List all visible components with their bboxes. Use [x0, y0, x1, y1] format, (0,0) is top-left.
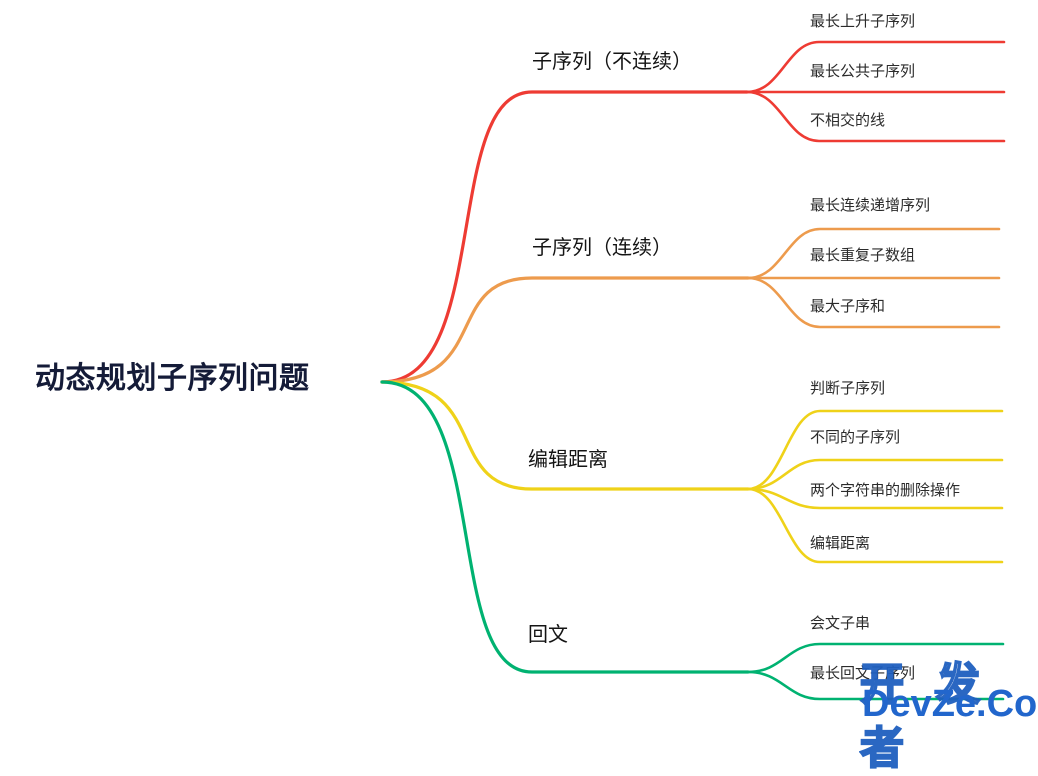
leaf-label-branch-edit-distance-2[interactable]: 两个字符串的删除操作: [810, 483, 960, 498]
leaf-line-branch-edit-distance-0: [748, 411, 1002, 489]
leaf-label-branch-subsequence-noncontiguous-0[interactable]: 最长上升子序列: [810, 14, 915, 29]
leaf-label-branch-subsequence-noncontiguous-2[interactable]: 不相交的线: [810, 113, 885, 128]
leaf-line-branch-edit-distance-3: [748, 489, 1002, 562]
leaf-label-branch-edit-distance-0[interactable]: 判断子序列: [810, 381, 885, 396]
branch-label-branch-subsequence-noncontiguous[interactable]: 子序列（不连续）: [532, 52, 692, 72]
leaf-label-branch-edit-distance-1[interactable]: 不同的子序列: [810, 430, 900, 445]
watermark-english: DevZe.CoM: [862, 683, 1038, 726]
branch-label-branch-subsequence-contiguous[interactable]: 子序列（连续）: [532, 238, 672, 258]
mindmap-connector-lines: [0, 0, 1038, 721]
leaf-label-branch-edit-distance-3[interactable]: 编辑距离: [810, 536, 870, 551]
branch-label-branch-edit-distance[interactable]: 编辑距离: [528, 450, 608, 470]
leaf-label-branch-subsequence-noncontiguous-1[interactable]: 最长公共子序列: [810, 64, 915, 79]
root-node-label[interactable]: 动态规划子序列问题: [35, 364, 310, 394]
leaf-label-branch-palindrome-1[interactable]: 最长回文子序列: [810, 666, 915, 681]
leaf-label-branch-palindrome-0[interactable]: 会文子串: [810, 616, 870, 631]
leaf-label-branch-subsequence-contiguous-1[interactable]: 最长重复子数组: [810, 248, 915, 263]
leaf-label-branch-subsequence-contiguous-2[interactable]: 最大子序和: [810, 299, 885, 314]
mindmap-canvas: 动态规划子序列问题子序列（不连续）最长上升子序列最长公共子序列不相交的线子序列（…: [0, 0, 1038, 721]
leaf-label-branch-subsequence-contiguous-0[interactable]: 最长连续递增序列: [810, 198, 930, 213]
branch-label-branch-palindrome[interactable]: 回文: [528, 625, 568, 645]
branch-line-branch-subsequence-contiguous: [382, 278, 748, 382]
branch-line-branch-edit-distance: [382, 382, 748, 489]
